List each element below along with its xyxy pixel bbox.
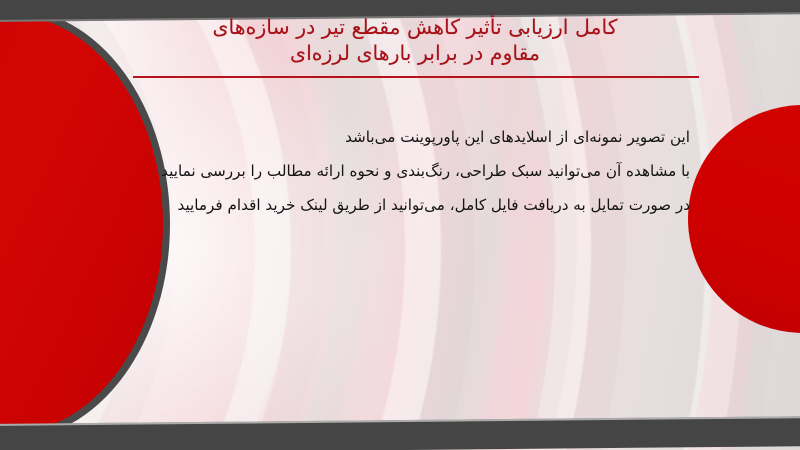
slide-body-line-3: در صورت تمایل به دریافت فایل کامل، می‌تو… — [170, 188, 690, 222]
slide-title-line-2: مقاوم در برابر بارهای لرزه‌ای — [120, 40, 710, 66]
slide-body-line-1: این تصویر نمونه‌ای از اسلایدهای این پاور… — [170, 120, 690, 154]
slide-title: کامل ارزیابی تأثیر کاهش مقطع تیر در سازه… — [120, 14, 710, 66]
slide-body-text: این تصویر نمونه‌ای از اسلایدهای این پاور… — [170, 120, 690, 222]
left-red-ellipse-decoration — [0, 8, 170, 440]
slide-title-line-1: کامل ارزیابی تأثیر کاهش مقطع تیر در سازه… — [120, 14, 710, 40]
slide-body-line-2: با مشاهده آن می‌توانید سبک طراحی، رنگ‌بن… — [170, 154, 690, 188]
slide-canvas: کامل ارزیابی تأثیر کاهش مقطع تیر در سازه… — [0, 0, 800, 450]
title-underline-rule — [133, 76, 699, 78]
